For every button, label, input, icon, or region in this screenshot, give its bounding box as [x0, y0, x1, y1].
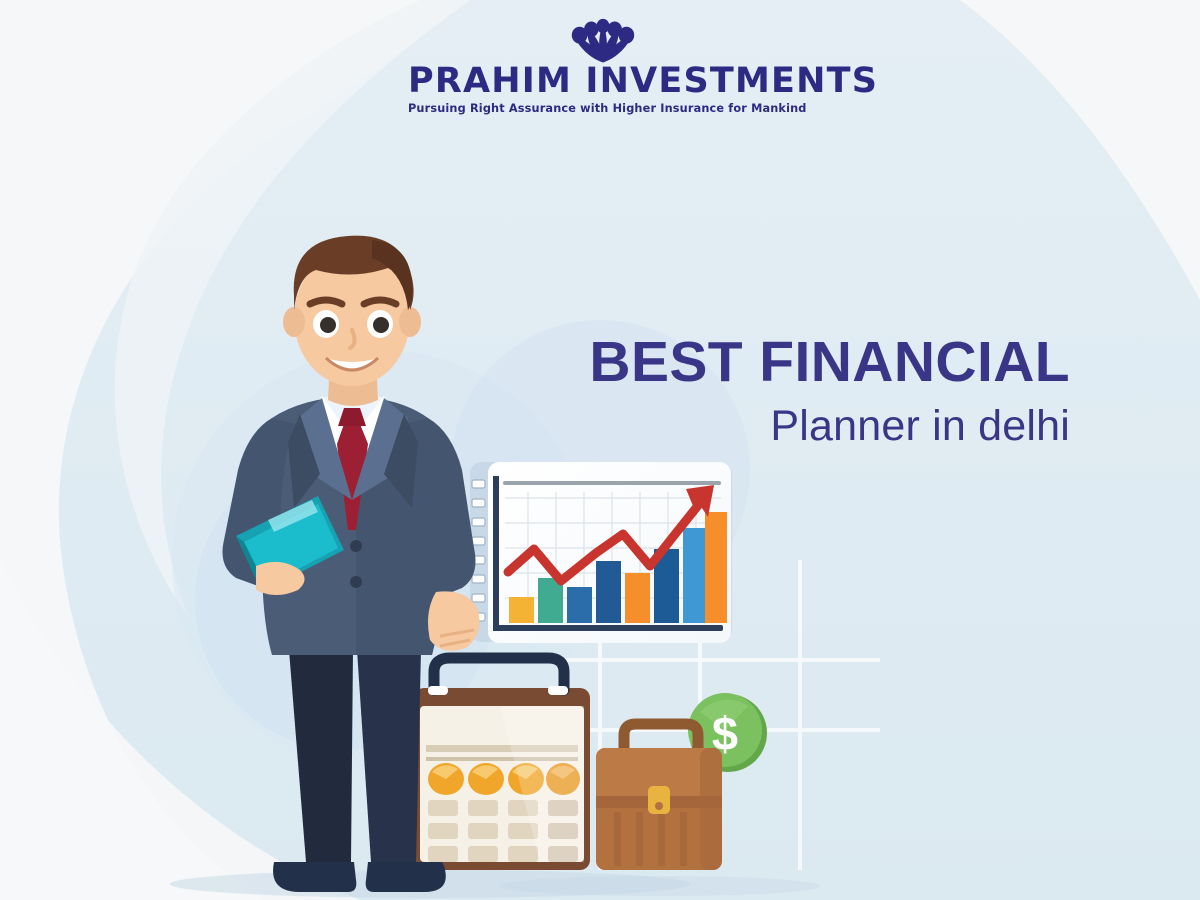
illustration-layer: $: [0, 0, 1200, 900]
promotional-banner: $: [0, 0, 1200, 900]
headline: BEST FINANCIAL Planner in delhi: [470, 334, 1070, 448]
brand-logo[interactable]: PRAHIM INVESTMENTS Pursuing Right Assura…: [408, 18, 798, 115]
brand-name: PRAHIM INVESTMENTS: [408, 64, 798, 98]
flipchart-bar-chart: [470, 462, 732, 643]
brand-tagline: Pursuing Right Assurance with Higher Ins…: [408, 102, 798, 115]
headline-primary: BEST FINANCIAL: [470, 334, 1070, 391]
headline-secondary: Planner in delhi: [470, 405, 1070, 448]
peacock-fan-icon: [564, 18, 642, 64]
calendar-clipboard: [414, 658, 590, 870]
briefcase: [596, 724, 722, 870]
